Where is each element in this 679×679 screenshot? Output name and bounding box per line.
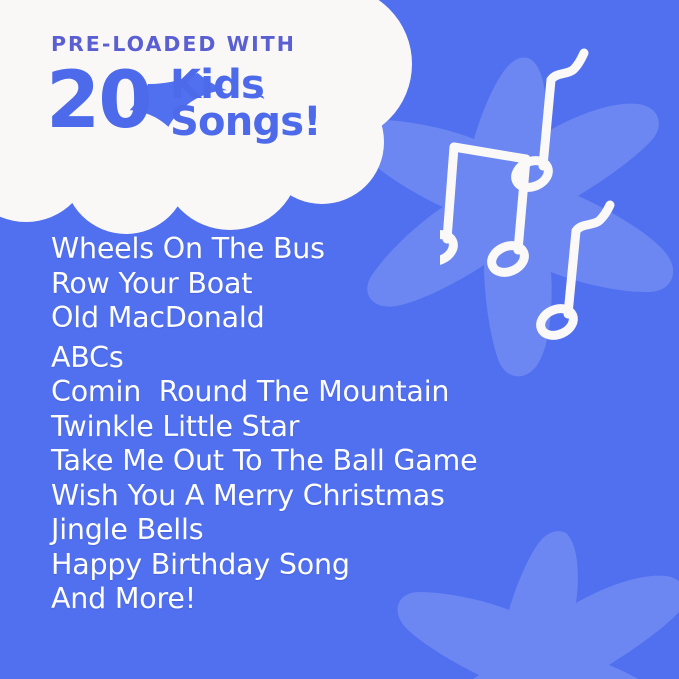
- list-item: Happy Birthday Song: [51, 548, 477, 583]
- headline-text: Kids Songs!: [170, 67, 321, 141]
- song-count-number: 20: [46, 62, 151, 140]
- headline-line-songs: Songs!: [170, 104, 321, 141]
- headline-block: PRE-LOADED WITH 20 Kids Songs!: [0, 0, 400, 180]
- list-item: Take Me Out To The Ball Game: [51, 444, 477, 479]
- list-item: Wish You A Merry Christmas: [51, 479, 477, 514]
- preloaded-eyebrow-label: PRE-LOADED WITH: [51, 32, 296, 56]
- promo-card: PRE-LOADED WITH 20 Kids Songs! Wheels On…: [0, 0, 679, 679]
- list-item: ABCs: [51, 341, 477, 376]
- song-list: Wheels On The Bus Row Your Boat Old MacD…: [51, 232, 477, 617]
- list-item: Comin Round The Mountain: [51, 375, 477, 410]
- list-item: Twinkle Little Star: [51, 410, 477, 445]
- list-item: Row Your Boat: [51, 267, 477, 302]
- list-item: And More!: [51, 582, 477, 617]
- list-item: Wheels On The Bus: [51, 232, 477, 267]
- eighth-note-upper-icon: [511, 53, 584, 192]
- list-item: Jingle Bells: [51, 513, 477, 548]
- eighth-note-lower-icon: [536, 205, 610, 340]
- list-item: Old MacDonald: [51, 301, 477, 336]
